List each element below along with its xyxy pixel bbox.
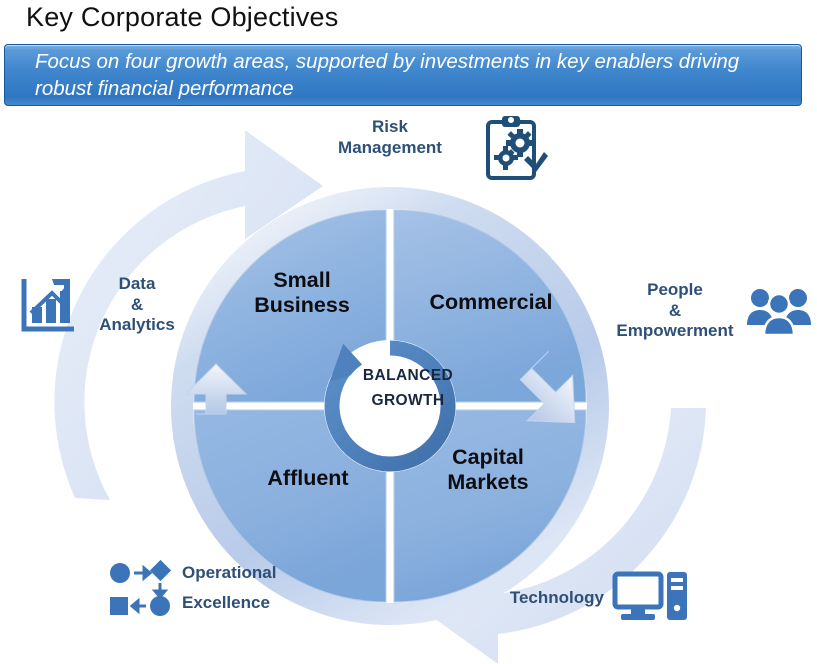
page-title: Key Corporate Objectives [26, 2, 338, 33]
enabler-risk-management[interactable]: Risk Management [310, 112, 560, 184]
quadrant-label-commercial: Commercial [400, 290, 582, 315]
flowchart-icon [108, 559, 174, 617]
quadrant-label-affluent: Affluent [228, 466, 388, 491]
enabler-people-empowerment[interactable]: People & Empowerment [612, 280, 812, 342]
enabler-operational-excellence[interactable]: Operational Excellence [108, 558, 318, 618]
people-group-icon [746, 285, 812, 337]
cycle-diagram: Small Business Commercial Affluent Capit… [0, 108, 817, 664]
subtitle-banner: Focus on four growth areas, supported by… [4, 44, 802, 106]
center-label-balanced-growth: BALANCED GROWTH [338, 363, 478, 413]
enabler-label-people-empowerment: People & Empowerment [612, 280, 738, 342]
enabler-technology[interactable]: Technology [492, 570, 702, 626]
quadrant-label-capital-markets: Capital Markets [398, 445, 578, 495]
enabler-label-technology: Technology [492, 588, 604, 609]
enabler-label-data-analytics: Data & Analytics [88, 274, 186, 336]
subtitle-text: Focus on four growth areas, supported by… [35, 48, 785, 102]
enabler-data-analytics[interactable]: Data & Analytics [16, 273, 206, 337]
quadrant-label-small-business: Small Business [222, 268, 382, 318]
desktop-computer-icon [612, 570, 688, 626]
clipboard-gears-icon [478, 112, 550, 184]
enabler-label-risk-management: Risk Management [310, 112, 470, 158]
bar-chart-arrow-icon [16, 273, 80, 337]
enabler-label-operational-excellence: Operational Excellence [182, 558, 300, 618]
